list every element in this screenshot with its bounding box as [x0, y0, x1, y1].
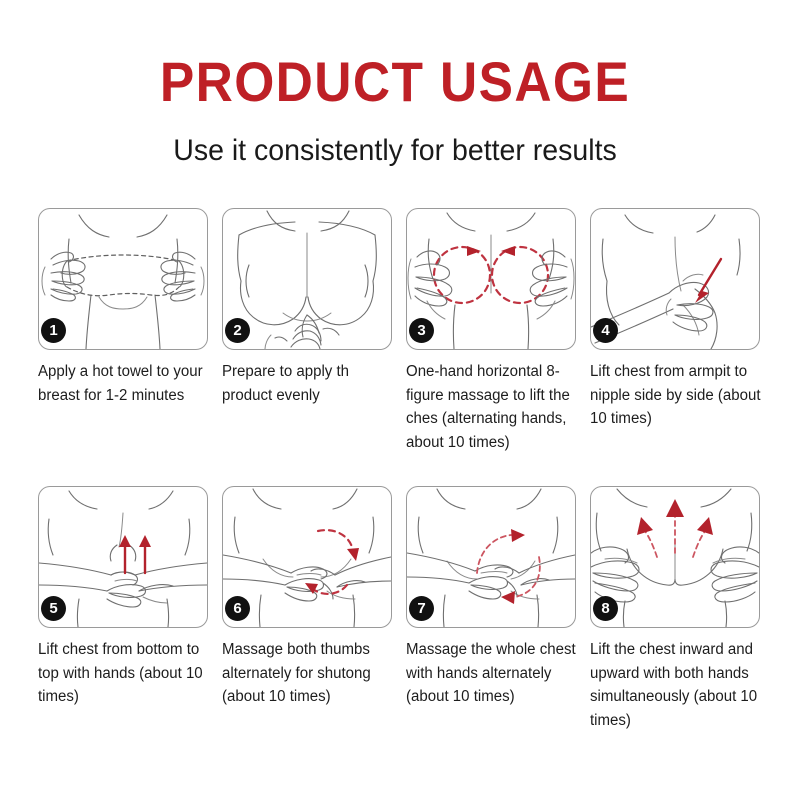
- step-4-number-badge: 4: [593, 318, 618, 343]
- step-1-caption: Apply a hot towel to your breast for 1-2…: [38, 350, 209, 407]
- step-4: 4 Lift chest from armpit to nipple side …: [590, 208, 760, 454]
- step-7: 7 Massage the whole chest with hands alt…: [406, 486, 576, 732]
- step-8: 8 Lift the chest inward and upward with …: [590, 486, 760, 732]
- step-3-caption: One-hand horizontal 8-figure massage to …: [406, 350, 577, 454]
- page-title: PRODUCT USAGE: [32, 54, 759, 110]
- header: PRODUCT USAGE Use it consistently for be…: [0, 0, 790, 166]
- step-2: 2 Prepare to apply th product evenly: [222, 208, 392, 454]
- step-5: 5 Lift chest from bottom to top with han…: [38, 486, 208, 732]
- step-1-illustration-panel: 1: [38, 208, 208, 350]
- step-4-illustration-panel: 4: [590, 208, 760, 350]
- step-6-caption: Massage both thumbs alternately for shut…: [222, 628, 393, 709]
- steps-row-top: 1 Apply a hot towel to your breast for 1…: [0, 208, 790, 454]
- steps-grid: 1 Apply a hot towel to your breast for 1…: [0, 208, 790, 732]
- step-3-number-badge: 3: [409, 318, 434, 343]
- step-8-illustration-panel: 8: [590, 486, 760, 628]
- step-7-illustration-panel: 7: [406, 486, 576, 628]
- step-5-caption: Lift chest from bottom to top with hands…: [38, 628, 209, 709]
- step-7-caption: Massage the whole chest with hands alter…: [406, 628, 577, 709]
- step-1: 1 Apply a hot towel to your breast for 1…: [38, 208, 208, 454]
- step-5-illustration-panel: 5: [38, 486, 208, 628]
- step-1-number-badge: 1: [41, 318, 66, 343]
- steps-row-bottom: 5 Lift chest from bottom to top with han…: [0, 486, 790, 732]
- page-subtitle: Use it consistently for better results: [20, 110, 771, 166]
- step-2-number-badge: 2: [225, 318, 250, 343]
- step-4-caption: Lift chest from armpit to nipple side by…: [590, 350, 761, 431]
- step-6: 6 Massage both thumbs alternately for sh…: [222, 486, 392, 732]
- step-6-illustration-panel: 6: [222, 486, 392, 628]
- step-3: 3 One-hand horizontal 8-figure massage t…: [406, 208, 576, 454]
- step-3-illustration-panel: 3: [406, 208, 576, 350]
- product-usage-infographic: PRODUCT USAGE Use it consistently for be…: [0, 0, 790, 800]
- step-8-caption: Lift the chest inward and upward with bo…: [590, 628, 761, 732]
- step-2-caption: Prepare to apply th product evenly: [222, 350, 393, 407]
- step-2-illustration-panel: 2: [222, 208, 392, 350]
